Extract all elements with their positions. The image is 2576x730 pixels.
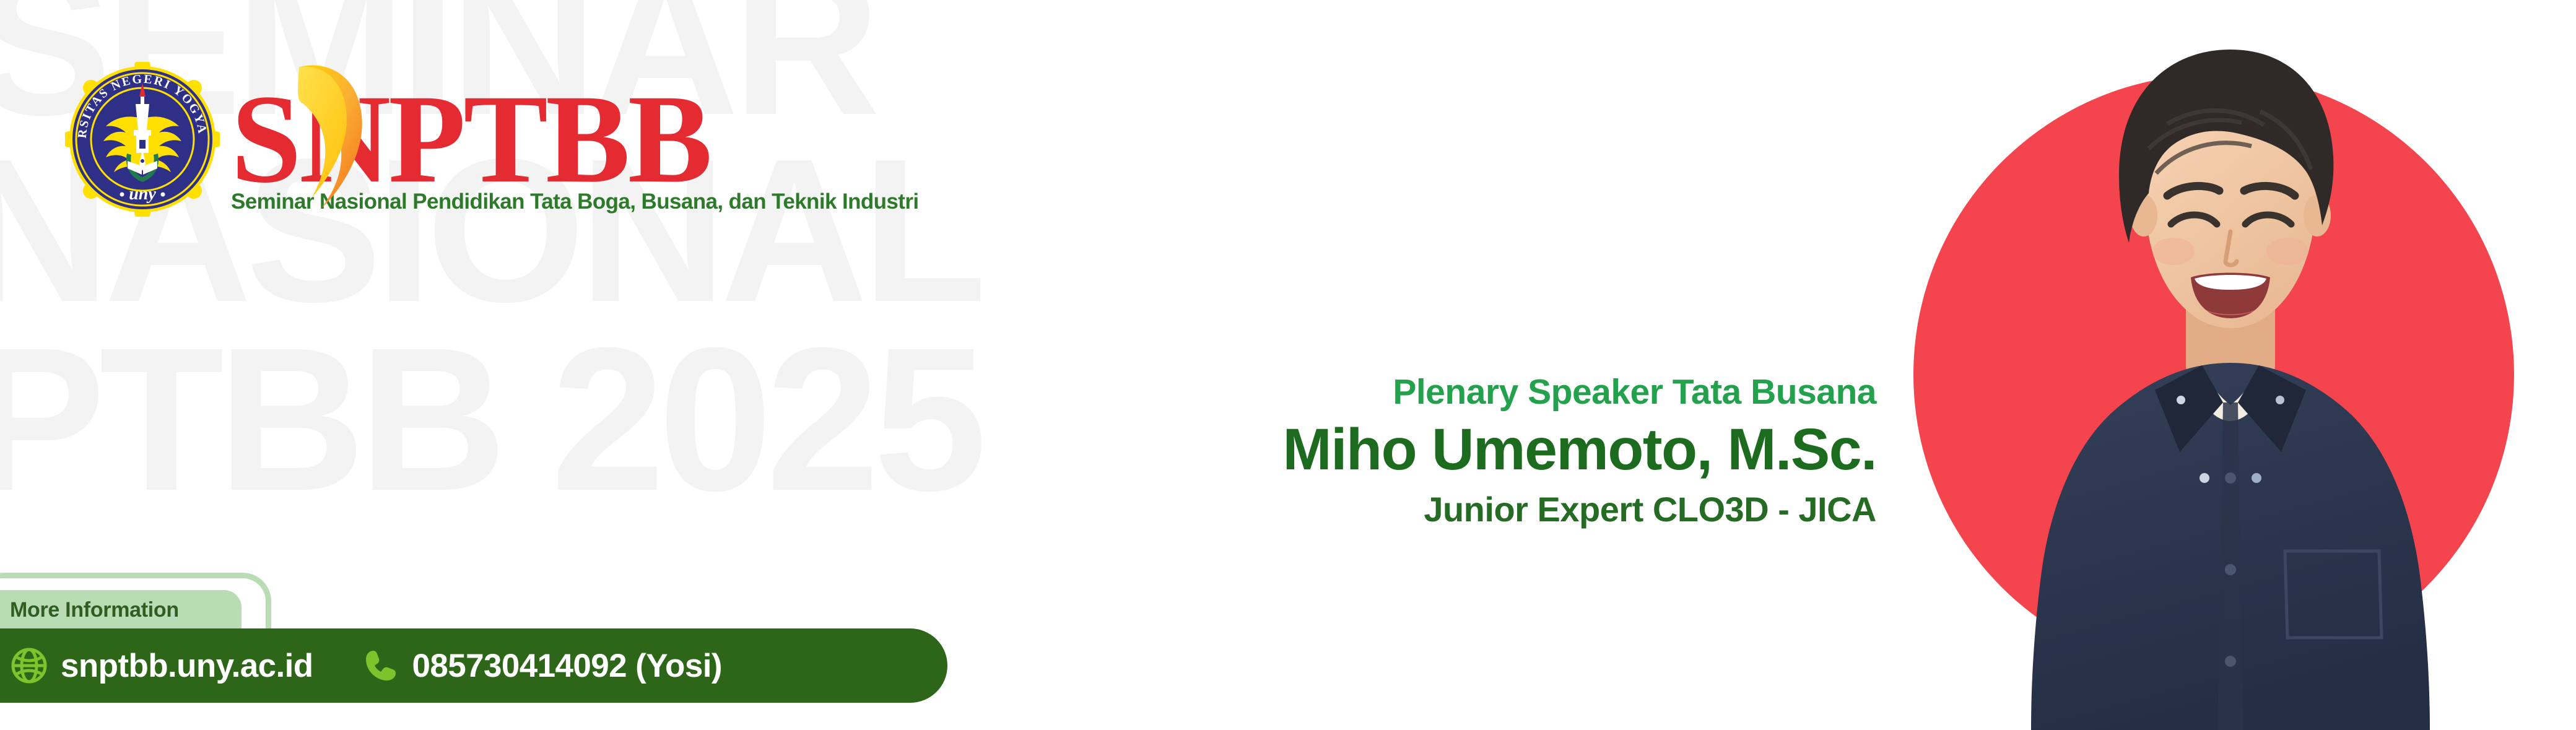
speaker-portrait-zone [1870,0,2576,730]
more-information-tab[interactable]: More Information [0,590,241,630]
contact-bar: snptbb.uny.ac.id 085730414092 (Yosi) [0,628,947,703]
contact-phone-value: 085730414092 (Yosi) [412,647,722,685]
logo-lockup: UNIVERSITAS NEGERI YOGYAKARTA [65,62,918,217]
svg-text:uny: uny [129,185,156,204]
contact-phone-link[interactable]: 085730414092 (Yosi) [363,647,722,685]
snptbb-logo: SNPTBB [231,62,918,214]
phone-icon [363,648,399,684]
seminar-banner: SEMINAR NASIONAL PTBB 2025 [0,0,2576,730]
snptbb-wordmark-text: SNPTBB [231,76,710,202]
speaker-portrait-photo [1963,19,2495,730]
speaker-role-label: Plenary Speaker Tata Busana [947,372,1876,413]
contact-website-link[interactable]: snptbb.uny.ac.id [11,647,313,685]
uny-university-seal-icon: UNIVERSITAS NEGERI YOGYAKARTA [65,62,220,217]
speaker-affiliation: Junior Expert CLO3D - JICA [947,489,1876,530]
speaker-info-block: Plenary Speaker Tata Busana Miho Umemoto… [947,372,1876,530]
speaker-name: Miho Umemoto, M.Sc. [947,414,1876,486]
contact-website-value: snptbb.uny.ac.id [61,647,313,685]
globe-icon [11,648,47,684]
more-information-label: More Information [10,598,179,622]
watermark-line-ptbb-2025: PTBB 2025 [0,331,981,507]
